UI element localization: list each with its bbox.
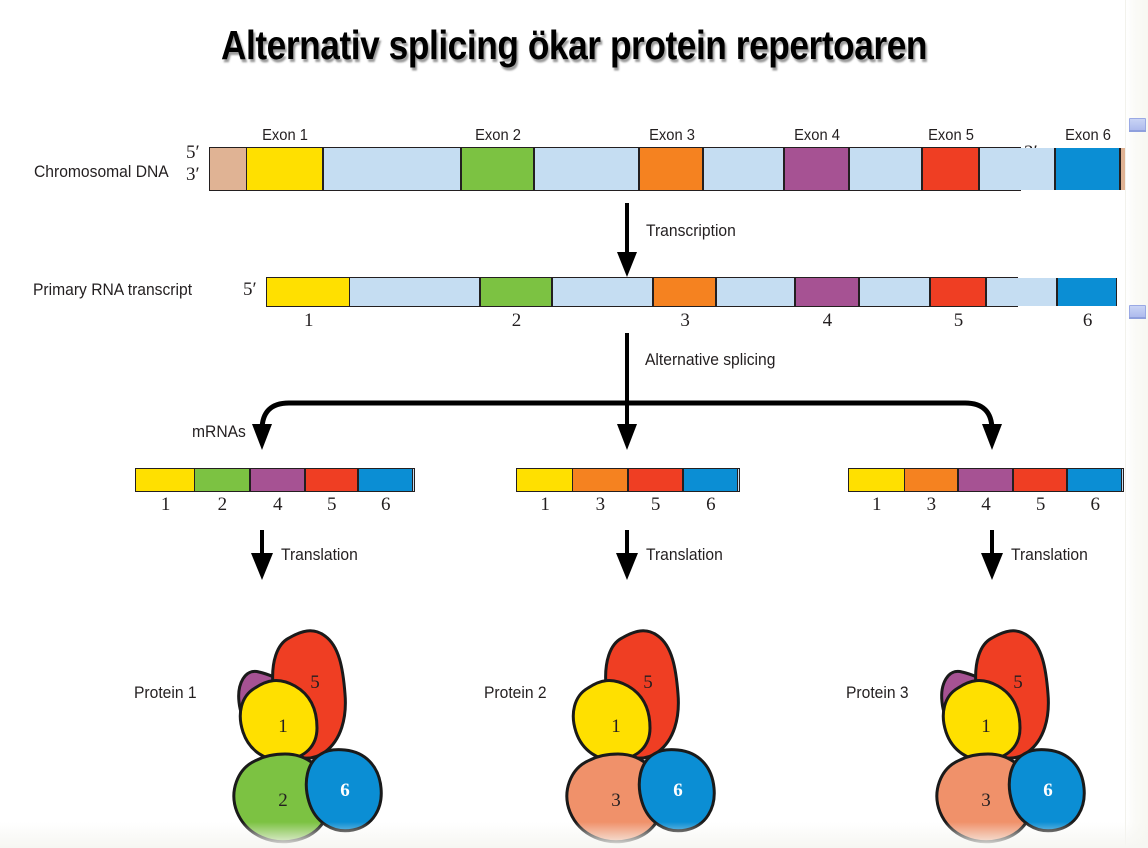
mrna-1-number-6: 6 xyxy=(356,494,416,516)
page-title: Alternativ splicing ökar protein reperto… xyxy=(80,22,1067,69)
exon-header-3: Exon 3 xyxy=(616,127,726,145)
mrna-3-seg-4 xyxy=(1067,469,1122,491)
panel-button-bottom[interactable] xyxy=(1129,305,1146,318)
mrna-1-seg-4 xyxy=(358,469,413,491)
protein-3-subunit-label-5: 5 xyxy=(1013,672,1023,693)
mrna-1 xyxy=(135,468,415,492)
mrna-2-seg-3 xyxy=(683,469,738,491)
slide-canvas: Alternativ splicing ökar protein reperto… xyxy=(0,0,1148,848)
protein-2-subunit-label-1: 1 xyxy=(611,716,621,737)
exon-header-2: Exon 2 xyxy=(442,127,552,145)
chromosomal-dna-label: Chromosomal DNA xyxy=(34,162,169,182)
primary-rna-transcript-bar-exon-1 xyxy=(267,278,349,306)
panel-button-top[interactable] xyxy=(1129,118,1146,131)
mrna-1-seg-0 xyxy=(136,469,194,491)
protein-2-subunit-1: 1 xyxy=(573,680,650,760)
mrna-1-number-4: 4 xyxy=(248,494,308,516)
primary-rna-transcript-bar-exon-4 xyxy=(795,278,859,306)
mrna-3 xyxy=(848,468,1124,492)
primary-rna-transcript-bar-intron-2 xyxy=(552,278,653,306)
protein-3-subunit-label-3: 3 xyxy=(981,790,991,811)
alternative-splicing-label: Alternative splicing xyxy=(645,350,775,370)
primary-rna-transcript-bar xyxy=(266,277,1018,307)
mrna-3-seg-0 xyxy=(849,469,904,491)
chromosomal-dna-bar-exon-6 xyxy=(1055,148,1120,190)
primary-rna-transcript-bar-exon-2 xyxy=(480,278,551,306)
rna-exon-number-3: 3 xyxy=(655,310,715,332)
protein-1-subunit-6: 6 xyxy=(306,750,381,831)
mrna-3-seg-3 xyxy=(1013,469,1068,491)
rna-prime-left: 5′ xyxy=(243,279,257,301)
mrna-2-number-5: 5 xyxy=(626,494,686,516)
protein-2-subunit-6: 6 xyxy=(639,750,714,831)
exon-header-4: Exon 4 xyxy=(762,127,872,145)
primary-rna-transcript-bar-intron-4 xyxy=(859,278,930,306)
exon-header-5: Exon 5 xyxy=(896,127,1006,145)
right-panel-strip[interactable] xyxy=(1125,0,1148,848)
protein-1-subunit-label-2: 2 xyxy=(278,790,288,811)
protein-1-label: Protein 1 xyxy=(134,683,197,703)
chromosomal-dna-bar-exon-4 xyxy=(784,148,849,190)
protein-1-subunit-label-6: 6 xyxy=(340,780,350,801)
protein-3-structure: 45136 xyxy=(918,610,1128,825)
mrna-3-number-4: 4 xyxy=(956,494,1016,516)
mrna-3-seg-2 xyxy=(958,469,1013,491)
primary-rna-transcript-bar-exon-6 xyxy=(1057,278,1117,306)
mrna-2-number-3: 3 xyxy=(570,494,630,516)
mrna-2-seg-1 xyxy=(572,469,627,491)
primary-rna-transcript-label: Primary RNA transcript xyxy=(33,280,192,300)
protein-3-subunit-label-1: 1 xyxy=(981,716,991,737)
protein-2-subunit-label-3: 3 xyxy=(611,790,621,811)
dna-prime-left-top: 5′ xyxy=(186,142,200,164)
exon-header-1: Exon 1 xyxy=(230,127,340,145)
protein-2-label: Protein 2 xyxy=(484,683,547,703)
chromosomal-dna-bar-intron-1 xyxy=(323,148,461,190)
protein-1-subunit-label-1: 1 xyxy=(278,716,288,737)
mrna-3-number-6: 6 xyxy=(1065,494,1125,516)
protein-3-subunit-1: 1 xyxy=(943,680,1020,760)
chromosomal-dna-bar xyxy=(209,147,1021,191)
mrna-1-number-5: 5 xyxy=(302,494,362,516)
protein-3-subunit-label-6: 6 xyxy=(1043,780,1053,801)
chromosomal-dna-bar-intron-2 xyxy=(534,148,639,190)
translation-label-2: Translation xyxy=(646,545,723,565)
rna-exon-number-4: 4 xyxy=(797,310,857,332)
primary-rna-transcript-bar-exon-3 xyxy=(653,278,717,306)
protein-2-structure: 5136 xyxy=(548,610,758,825)
primary-rna-transcript-bar-intron-5 xyxy=(986,278,1057,306)
chromosomal-dna-bar-exon-1 xyxy=(246,148,323,190)
primary-rna-transcript-bar-exon-5 xyxy=(930,278,986,306)
chromosomal-dna-bar-exon-5 xyxy=(922,148,979,190)
mrnas-label: mRNAs xyxy=(192,422,246,442)
chromosomal-dna-bar-utr-left xyxy=(210,148,246,190)
primary-rna-transcript-bar-intron-1 xyxy=(349,278,480,306)
chromosomal-dna-bar-exon-3 xyxy=(639,148,704,190)
chromosomal-dna-bar-intron-5 xyxy=(979,148,1056,190)
protein-3-subunit-6: 6 xyxy=(1009,750,1084,831)
mrna-1-seg-2 xyxy=(250,469,305,491)
mrna-2-seg-2 xyxy=(628,469,683,491)
mrna-2 xyxy=(516,468,740,492)
protein-3-label: Protein 3 xyxy=(846,683,909,703)
chromosomal-dna-bar-intron-4 xyxy=(849,148,922,190)
rna-exon-number-1: 1 xyxy=(279,310,339,332)
mrna-2-number-1: 1 xyxy=(515,494,575,516)
mrna-3-number-3: 3 xyxy=(901,494,961,516)
chromosomal-dna-bar-intron-3 xyxy=(703,148,784,190)
protein-1-subunit-1: 1 xyxy=(240,680,317,760)
rna-exon-number-2: 2 xyxy=(487,310,547,332)
protein-1-subunit-label-5: 5 xyxy=(310,672,320,693)
mrna-3-number-1: 1 xyxy=(847,494,907,516)
chromosomal-dna-bar-exon-2 xyxy=(461,148,534,190)
mrna-2-number-6: 6 xyxy=(681,494,741,516)
translation-label-3: Translation xyxy=(1011,545,1088,565)
mrna-3-number-5: 5 xyxy=(1011,494,1071,516)
mrna-1-seg-3 xyxy=(305,469,358,491)
bottom-fade xyxy=(0,822,1148,848)
mrna-1-seg-1 xyxy=(194,469,249,491)
protein-1-structure: 45126 xyxy=(215,610,425,825)
dna-prime-left-bottom: 3′ xyxy=(186,164,200,186)
rna-exon-number-5: 5 xyxy=(928,310,988,332)
mrna-1-number-2: 2 xyxy=(192,494,252,516)
primary-rna-transcript-bar-intron-3 xyxy=(716,278,795,306)
translation-label-1: Translation xyxy=(281,545,358,565)
protein-2-subunit-label-6: 6 xyxy=(673,780,683,801)
transcription-label: Transcription xyxy=(646,221,736,241)
rna-exon-number-6: 6 xyxy=(1058,310,1118,332)
mrna-3-seg-1 xyxy=(904,469,959,491)
mrna-2-seg-0 xyxy=(517,469,572,491)
mrna-1-number-1: 1 xyxy=(136,494,196,516)
protein-2-subunit-label-5: 5 xyxy=(643,672,653,693)
